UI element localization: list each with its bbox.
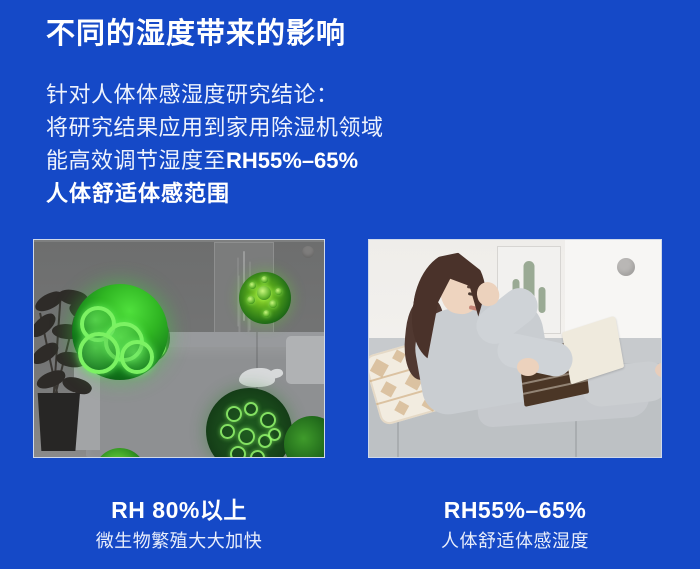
intro-line-2: 将研究结果应用到家用除湿机领域	[46, 111, 384, 144]
caption-subtitle: 人体舒适体感湿度	[368, 528, 662, 554]
bird-ornament	[239, 368, 275, 387]
intro-line-3: 能高效调节湿度至RH55%–65%	[46, 144, 384, 177]
caption-comfort-humidity: RH55%–65% 人体舒适体感湿度	[368, 496, 662, 554]
wall-speaker-icon	[302, 246, 314, 258]
intro-line-3-normal: 能高效调节湿度至	[46, 148, 226, 173]
wall-seam	[34, 240, 324, 242]
wall-speaker-icon	[617, 258, 635, 276]
microbe-cluster-large	[72, 284, 168, 380]
caption-title: RH 80%以上	[33, 496, 325, 524]
page-title: 不同的湿度带来的影响	[46, 16, 346, 52]
intro-line-3-highlight: RH55%–65%	[226, 148, 358, 173]
plant-pot	[34, 393, 80, 451]
scene-bright-living-room	[369, 240, 661, 457]
poster-root: 不同的湿度带来的影响 针对人体体感湿度研究结论： 将研究结果应用到家用除湿机领域…	[0, 0, 700, 569]
microbe-cluster-top-right	[239, 272, 291, 324]
caption-title: RH55%–65%	[368, 496, 662, 524]
caption-high-humidity: RH 80%以上 微生物繁殖大大加快	[33, 496, 325, 554]
scene-dark-living-room	[34, 240, 324, 457]
intro-paragraph: 针对人体体感湿度研究结论： 将研究结果应用到家用除湿机领域 能高效调节湿度至RH…	[46, 78, 384, 210]
caption-subtitle: 微生物繁殖大大加快	[33, 528, 325, 554]
woman-hand-holding-book	[517, 358, 539, 376]
intro-line-1: 针对人体体感湿度研究结论：	[46, 78, 384, 111]
sofa-cushion	[286, 336, 324, 384]
photo-high-humidity	[33, 239, 325, 458]
intro-line-4: 人体舒适体感范围	[46, 177, 384, 210]
photo-comfort-humidity	[368, 239, 662, 458]
